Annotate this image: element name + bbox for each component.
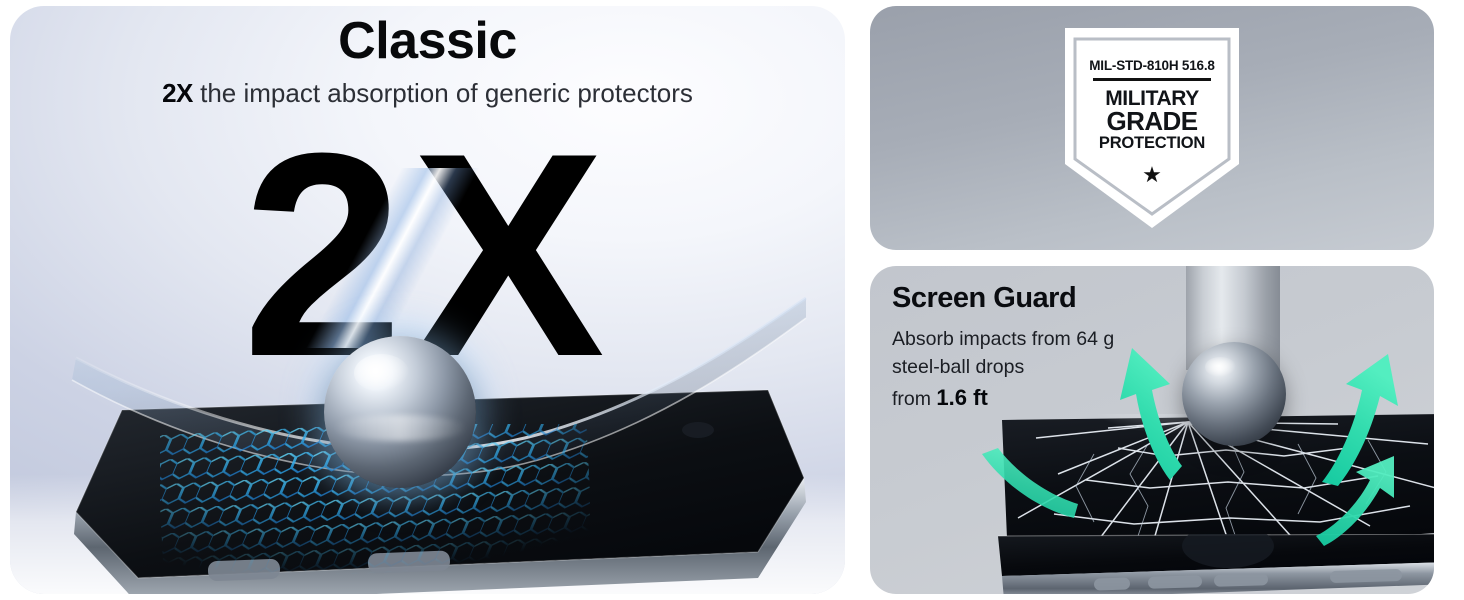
badge-text-block: MIL-STD-810H 516.8 MILITARY GRADE PROTEC…: [1059, 58, 1245, 186]
steel-ball-dropping: [1182, 342, 1286, 446]
hero-text-block: Classic 2X the impact absorption of gene…: [10, 14, 845, 109]
steel-ball: [324, 336, 476, 488]
screen-guard-line-3-prefix: from: [892, 388, 936, 410]
hero-subtitle-multiplier: 2X: [162, 78, 193, 108]
badge-line-protection: PROTECTION: [1059, 135, 1245, 152]
steel-ball-highlight: [333, 415, 467, 441]
product-feature-banner: Classic 2X the impact absorption of gene…: [0, 0, 1464, 600]
star-icon: ★: [1059, 164, 1245, 186]
military-badge-panel: MIL-STD-810H 516.8 MILITARY GRADE PROTEC…: [870, 6, 1434, 250]
badge-standard: MIL-STD-810H 516.8: [1059, 58, 1245, 73]
screen-guard-panel: Screen Guard Absorb impacts from 64 g st…: [870, 266, 1434, 594]
page-title: Classic: [10, 14, 845, 69]
shield-icon: MIL-STD-810H 516.8 MILITARY GRADE PROTEC…: [1059, 24, 1245, 232]
hero-subtitle: 2X the impact absorption of generic prot…: [10, 79, 845, 109]
phone-device-lower: [982, 534, 1434, 594]
screen-guard-line-3: from 1.6 ft: [892, 382, 1192, 414]
hero-subtitle-rest: the impact absorption of generic protect…: [193, 78, 693, 108]
badge-line-grade: GRADE: [1059, 108, 1245, 135]
screen-guard-drop-height: 1.6 ft: [936, 385, 987, 410]
screen-guard-title: Screen Guard: [892, 282, 1192, 315]
hero-panel: Classic 2X the impact absorption of gene…: [10, 6, 845, 594]
screen-guard-line-2: steel-ball drops: [892, 353, 1192, 381]
badge-divider: [1093, 78, 1211, 81]
screen-guard-line-1: Absorb impacts from 64 g: [892, 325, 1192, 353]
screen-guard-text-block: Screen Guard Absorb impacts from 64 g st…: [892, 282, 1192, 413]
